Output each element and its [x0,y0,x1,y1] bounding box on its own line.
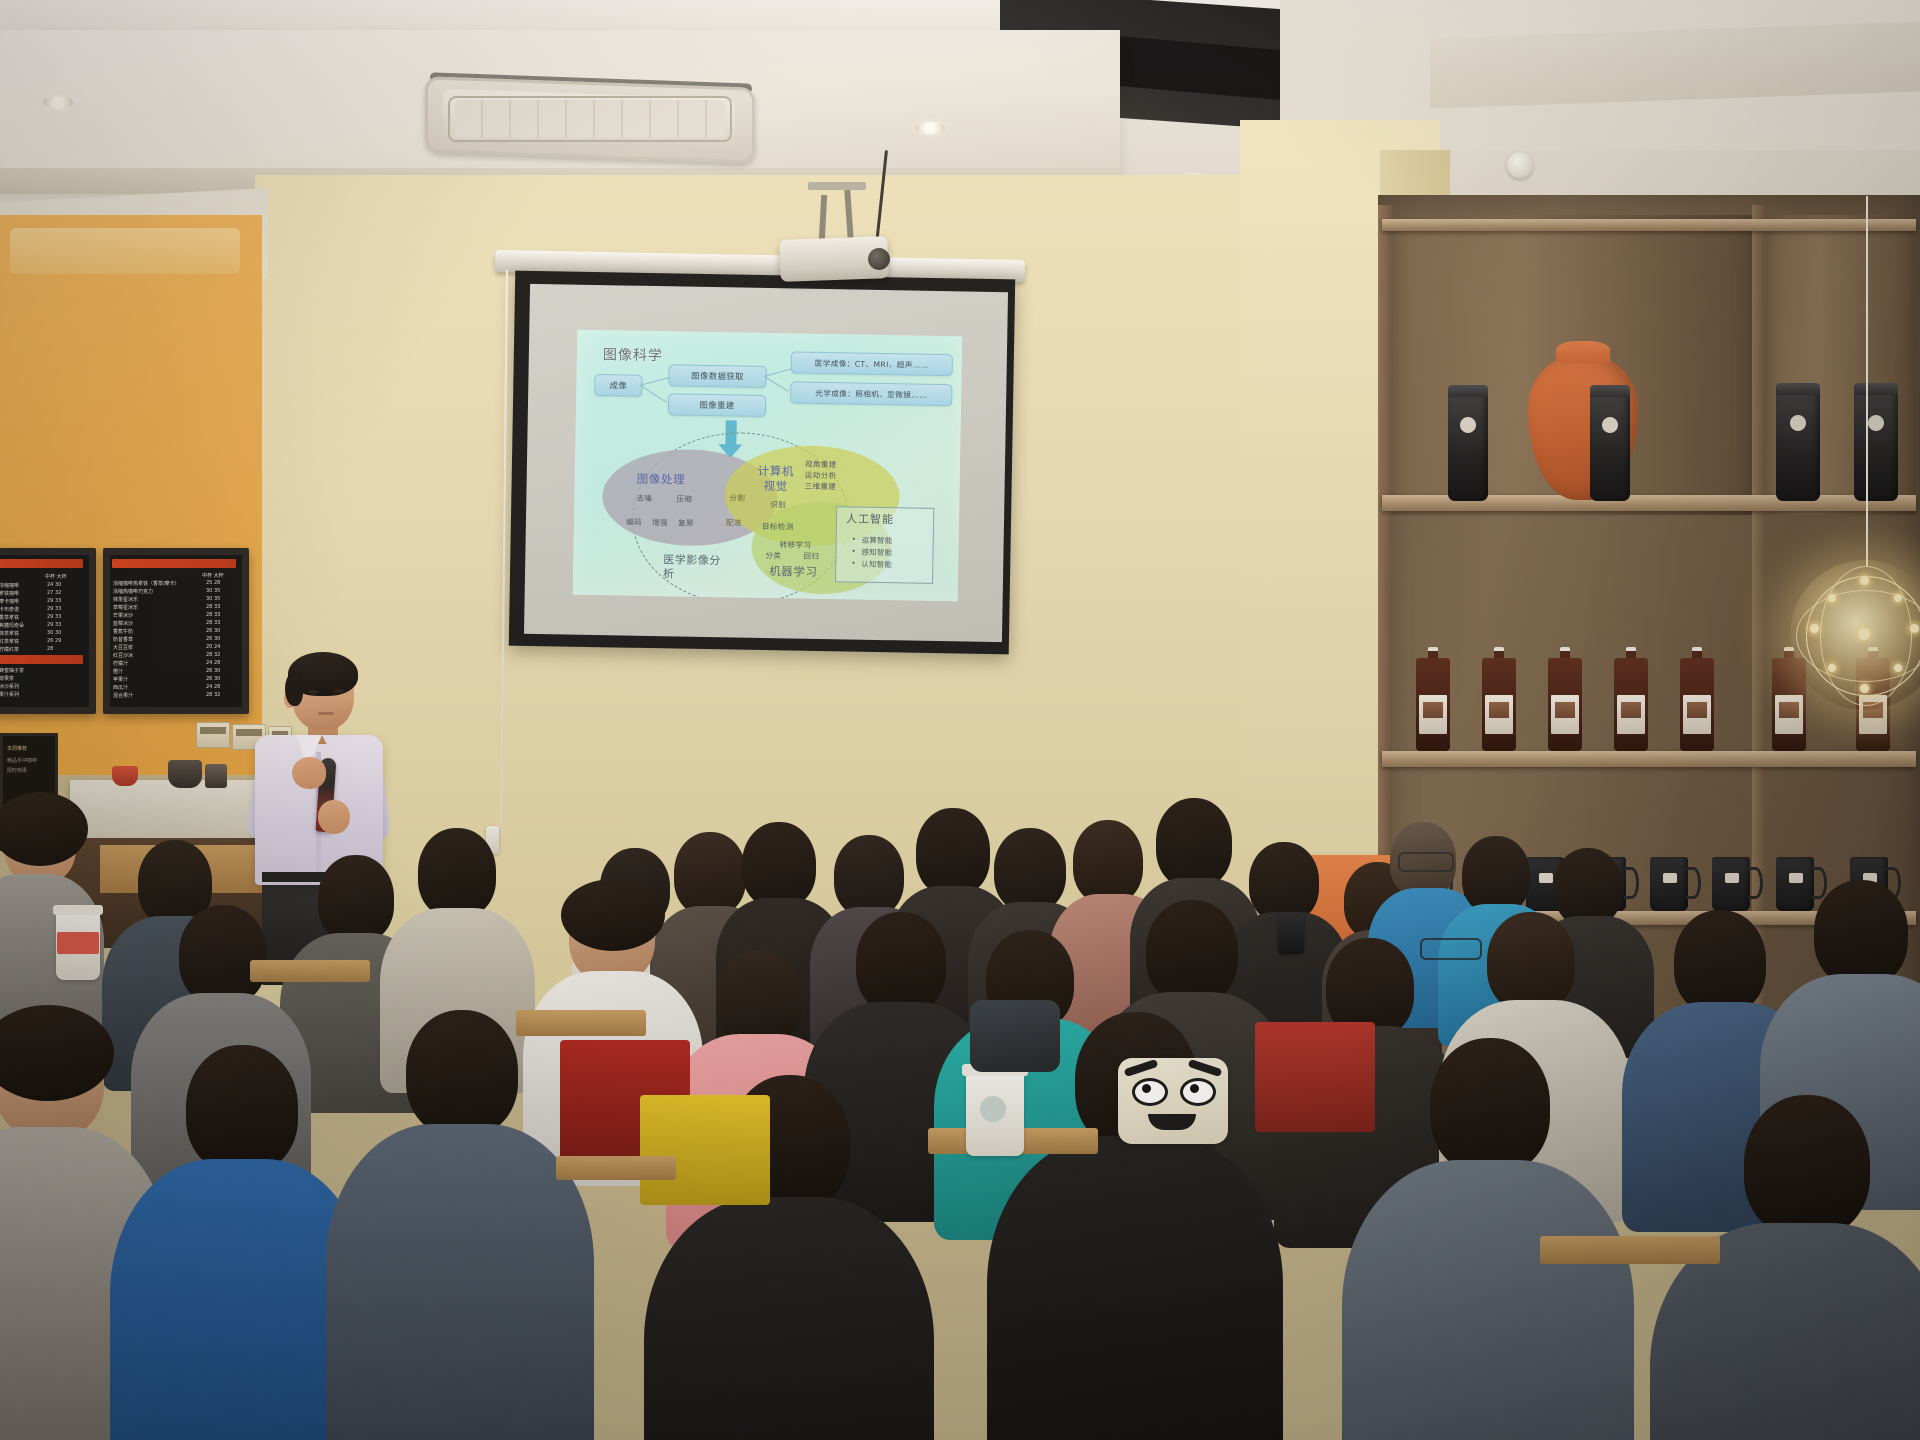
menu-item: 柠檬红茶 [0,646,19,653]
menu-item: 焦糖玛奇朵 [0,622,24,629]
connector-line [764,376,788,392]
shelf-board [1382,219,1916,231]
chair [640,1095,770,1205]
venn-term: 去噪 [636,493,652,504]
menu-item: 柠檬汁 [113,660,128,667]
tumbler-lid [1448,385,1488,397]
venn-term: 复原 [678,517,694,528]
menu-item: 香蕉牛奶 [113,628,133,635]
ai-bullet: • [851,546,856,555]
presenter-left-hand [292,757,326,789]
table [516,1010,646,1036]
menu-item: 草莓星冰乐 [113,604,138,611]
pendant-light-wire [1866,196,1868,566]
shelf-board [1382,751,1916,767]
projector-mount-plate [808,182,866,190]
venn-term: 转移学习 [780,539,812,551]
tumbler-logo-icon [1602,417,1618,433]
menu-item: 混合果汁 [113,692,133,699]
venn-label-machine-learning: 机器学习 [769,563,818,580]
black-tumbler [1590,393,1630,501]
venn-overlap-term: 分割 [729,492,745,503]
presenter-hair-side [285,672,303,706]
venn-term: 回归 [803,551,819,562]
flow-box-imaging: 成像 [594,374,642,397]
venn-overlap-term: 配准 [726,517,742,528]
downlight-icon [43,96,73,109]
tumbler-lid [1854,383,1898,395]
menu-item: 大豆豆浆 [113,644,133,651]
venn-term: 三维重建 [805,481,837,493]
connector-line [765,368,792,377]
ai-bullet: • [851,558,856,567]
tumbler-lid [1590,385,1630,397]
eyeglasses-icon [1398,852,1454,872]
cup-sleeve [57,932,99,954]
ai-bullet: • [852,534,857,543]
venn-term: 视角重建 [805,459,837,471]
menu-item: 卡布奇诺 [0,606,19,613]
connector-line [640,385,667,403]
venn-label-medical-image-analysis: 医学影像分析 [663,553,727,582]
hoodie-graphic [1118,1058,1228,1144]
mug-handle [1624,867,1639,899]
syrup-bottle [1416,647,1450,751]
terracotta-vase-neck [1556,341,1610,363]
ai-bullet-label: 运算智能 [862,535,893,547]
venn-label-computer-vision: 计算机视觉 [753,464,800,495]
menu-item: 冰沙系列 [0,683,19,690]
coffee-grinder [205,764,227,788]
flow-box-reconstruction: 图像重建 [668,393,766,417]
presenter-eye [308,690,319,694]
syrup-bottle [1614,647,1648,751]
menu-item: 抹茶拿铁 [0,630,19,637]
venn-term: 压缩 [676,493,692,504]
eyeglasses-icon [1420,938,1482,960]
slide-content: 图像科学 成像 图像数据获取 图像重建 医学成像：CT、MRI、超声…… 光学成… [573,330,963,602]
black-mug [1776,857,1814,911]
presenter-mouth [318,712,334,715]
menu-item: 红茶拿铁 [0,638,19,645]
table [250,960,370,982]
table [1540,1236,1720,1264]
menu-board-header [0,559,83,568]
connector-line [640,377,669,386]
ac-slats [455,100,725,138]
tumbler-logo-icon [1868,415,1884,431]
menu-item: 奶昔香草 [113,636,133,643]
wall-outlet [196,722,230,748]
menu-item: 浓缩热咖啡巧克力 [113,588,153,595]
flow-box-optical-imaging: 光学成像：照相机、显微镜…… [790,381,952,406]
black-mug [1650,857,1688,911]
menu-board-header-2 [0,655,83,664]
ai-bullet-label: 认知智能 [861,559,892,571]
black-mug [1712,857,1750,911]
menu-item: 抹茶星冰乐 [113,596,138,603]
cup-logo-icon [980,1096,1006,1122]
chair [1255,1022,1375,1132]
ai-bullet-label: 感知智能 [861,547,892,559]
menu-item: 红豆沙冰 [113,652,133,659]
smartphone-icon [1278,912,1304,954]
menu-item: 香草拿铁 [0,614,19,621]
venn-term: 分类 [765,550,781,561]
menu-item: 果汁系列 [0,691,19,698]
venn-term: 运动分析 [805,470,837,482]
menu-board-left: 中杯 大杯 浓缩咖啡24 30 拿铁咖啡27 32 摩卡咖啡29 33 卡布奇诺… [0,548,96,714]
menu-item: 橙汁 [113,668,123,675]
flow-box-medical-imaging: 医学成像：CT、MRI、超声…… [791,351,953,376]
menu-item: 蜂蜜柚子茶 [0,667,24,674]
red-cup [112,766,138,786]
black-tumbler [1854,391,1898,501]
syrup-bottle [1548,647,1582,751]
tumbler-logo-icon [1790,415,1806,431]
tumbler-lid [1776,383,1820,395]
tumbler-logo-icon [1460,417,1476,433]
mug-handle [1686,867,1701,899]
menu-item: 浓缩咖啡 [0,582,19,589]
lecture-room-photo: 中杯 大杯 浓缩咖啡24 30 拿铁咖啡27 32 摩卡咖啡29 33 卡布奇诺… [0,0,1920,1440]
venn-term: 编码 [626,517,642,528]
menu-item: 苹果汁 [113,676,128,683]
menu-board-right: 中杯 大杯 浓缩咖啡热拿铁（香草/摩卡）25 28 浓缩热咖啡巧克力30 35 … [103,548,249,714]
mug-handle [1812,867,1827,899]
backpack [970,1000,1060,1072]
menu-size-header: 中杯 大杯 [45,573,67,580]
venn-term: 增强 [652,517,668,528]
ai-box-title: 人工智能 [846,510,894,527]
downlight-icon [915,122,945,134]
menu-item: 拿铁咖啡 [0,590,19,597]
alcove-cove-light [10,228,240,274]
menu-item: 蓝莓冰沙 [113,620,133,627]
presenter-right-hand [318,800,350,834]
menu-item: 浓缩咖啡热拿铁（香草/摩卡） [113,580,180,587]
presenter-eye [334,689,345,693]
black-tumbler [1776,391,1820,501]
smoke-detector-icon [1507,152,1533,178]
slide-heading: 图像科学 [603,344,663,365]
pour-over-kettle [168,760,202,788]
table [556,1156,676,1180]
flow-box-acquisition: 图像数据获取 [668,364,766,388]
venn-label-image-processing: 图像处理 [637,471,686,488]
cup-lid [53,905,103,915]
black-tumbler [1448,393,1488,501]
menu-size-header: 中杯 大杯 [202,572,224,579]
menu-item: 鲜果茶 [0,675,14,682]
menu-item: 西瓜汁 [113,684,128,691]
menu-item: 芒果冰沙 [113,612,133,619]
mug-handle [1748,867,1763,899]
syrup-bottle [1680,647,1714,751]
venn-term: 目标检测 [762,521,794,533]
menu-item: 摩卡咖啡 [0,598,19,605]
menu-board-header [112,559,236,568]
syrup-bottle [1482,647,1516,751]
venn-term: 识别 [770,499,786,510]
